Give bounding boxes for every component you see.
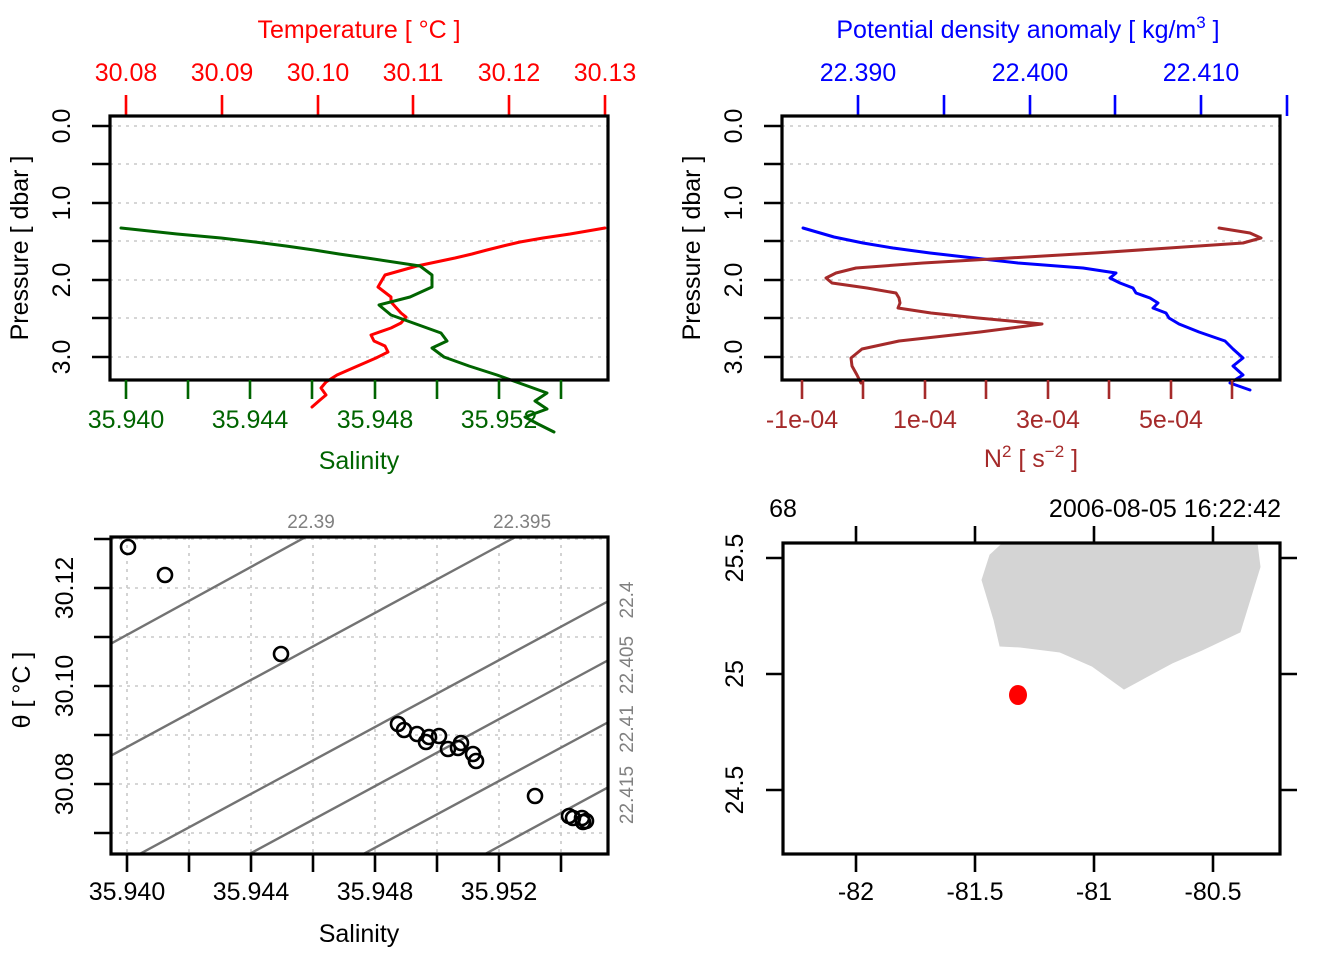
x-axis-title-salinity: Salinity: [319, 920, 400, 948]
top-axis-title-temperature: Temperature [ °C ]: [257, 16, 460, 44]
left-tick-label-2: 2.0: [48, 263, 76, 298]
y-axis-ticks-right: [1280, 558, 1297, 790]
station-marker-dot: [1009, 685, 1027, 705]
station-number-label: 68: [769, 495, 797, 523]
data-point: [528, 789, 542, 803]
grid-lines: [110, 126, 608, 357]
scatter-points: [121, 540, 593, 829]
plot-box: [782, 116, 1280, 380]
y-tick-label-2: 30.12: [51, 557, 79, 620]
left-tick-label-3: 3.0: [48, 340, 76, 375]
x-axis-ticks: [127, 854, 561, 872]
y-tick-label-0: 30.08: [51, 753, 79, 816]
bottom-tick-label-3: 5e-04: [1139, 406, 1203, 434]
y-tick-label-1: 25: [721, 660, 749, 688]
panel-temperature-salinity-profile: Temperature [ °C ] 30.08 30.09 30.10 30.…: [0, 0, 672, 480]
data-point: [158, 568, 172, 582]
left-tick-label-3: 3.0: [720, 340, 748, 375]
plot-interior: [103, 528, 616, 872]
data-point: [432, 729, 446, 743]
x-tick-label-1: -81.5: [947, 878, 1004, 906]
plot-box: [110, 116, 608, 380]
x-tick-label-1: 35.944: [213, 878, 290, 906]
left-tick-label-2: 2.0: [720, 263, 748, 298]
top-tick-label-4: 30.12: [478, 59, 541, 87]
bottom-axis-title-salinity: Salinity: [319, 447, 400, 475]
plot-box: [111, 537, 608, 854]
top-axis-title-density: Potential density anomaly [ kg/m3 ]: [836, 13, 1219, 44]
x-tick-label-2: 35.948: [337, 878, 413, 906]
left-tick-label-0: 0.0: [48, 109, 76, 144]
data-point: [121, 540, 135, 554]
y-tick-label-1: 30.10: [51, 655, 79, 718]
x-tick-label-3: 35.952: [461, 878, 537, 906]
isopycnal-label-right-1: 22.405: [617, 636, 638, 694]
left-axis-title-pressure: Pressure [ dbar ]: [678, 156, 706, 341]
bottom-tick-label-2: 3e-04: [1016, 406, 1080, 434]
bottom-tick-label-2: 35.948: [337, 406, 413, 434]
bottom-tick-label-3: 35.952: [461, 406, 537, 434]
series-n2: [826, 228, 1261, 383]
ctd-summary-figure: Temperature [ °C ] 30.08 30.09 30.10 30.…: [0, 0, 1344, 960]
timestamp-label: 2006-08-05 16:22:42: [1049, 495, 1281, 523]
series-salinity: [121, 228, 554, 432]
top-tick-label-1: 22.400: [992, 59, 1068, 87]
top-tick-label-3: 30.11: [383, 59, 444, 87]
y-axis-ticks-left: [766, 558, 783, 790]
top-axis-ticks: [126, 95, 605, 116]
left-tick-label-1: 1.0: [720, 186, 748, 221]
top-tick-label-2: 22.410: [1163, 59, 1239, 87]
x-tick-label-0: 35.940: [89, 878, 165, 906]
panel-density-n2-profile: Potential density anomaly [ kg/m3 ] 22.3…: [672, 0, 1344, 480]
bottom-axis-ticks: [802, 380, 1232, 399]
isopycnal-label-top-1: 22.395: [493, 512, 551, 533]
top-tick-label-1: 30.09: [191, 59, 254, 87]
bottom-tick-label-0: -1e-04: [766, 406, 838, 434]
map-interior: [783, 543, 1280, 854]
left-axis-ticks: [92, 126, 110, 357]
y-axis-ticks: [94, 539, 111, 833]
top-axis-ticks: [858, 95, 1287, 116]
x-tick-label-2: -81: [1076, 878, 1112, 906]
bottom-axis-title-n2: N2 [ s−2 ]: [984, 442, 1078, 473]
top-tick-label-2: 30.10: [287, 59, 350, 87]
y-tick-label-2: 24.5: [721, 766, 749, 815]
bottom-axis-ticks: [126, 380, 561, 399]
top-tick-label-5: 30.13: [574, 59, 637, 87]
x-axis-ticks-top: [856, 526, 1213, 543]
panel-theta-s-diagram: 22.39 22.395 θ [ °C ] 30.12 30.10 30.08: [0, 480, 672, 960]
series-density-anomaly: [803, 228, 1250, 390]
bottom-tick-label-1: 35.944: [212, 406, 289, 434]
top-tick-label-0: 22.390: [820, 59, 896, 87]
bottom-tick-label-1: 1e-04: [893, 406, 957, 434]
x-axis-ticks-bottom: [856, 854, 1213, 872]
y-tick-label-0: 25.5: [721, 534, 749, 583]
bottom-tick-label-0: 35.940: [88, 406, 164, 434]
data-point: [274, 647, 288, 661]
isopycnal-label-top-0: 22.39: [287, 512, 335, 533]
panel-station-map: 68 2006-08-05 16:22:42 25.5 25 24.5: [672, 480, 1344, 960]
left-tick-label-0: 0.0: [720, 109, 748, 144]
left-tick-label-1: 1.0: [48, 186, 76, 221]
y-axis-title-theta: θ [ °C ]: [8, 652, 36, 729]
left-axis-title-pressure: Pressure [ dbar ]: [6, 156, 34, 341]
isopycnal-label-right-0: 22.4: [617, 581, 638, 618]
isopycnal-label-right-2: 22.41: [617, 705, 638, 753]
top-tick-label-0: 30.08: [95, 59, 158, 87]
isopycnal-label-right-3: 22.415: [617, 766, 638, 824]
left-axis-ticks: [764, 126, 782, 357]
isopycnal-lines: [103, 528, 616, 872]
x-tick-label-3: -80.5: [1185, 878, 1242, 906]
x-tick-label-0: -82: [838, 878, 874, 906]
